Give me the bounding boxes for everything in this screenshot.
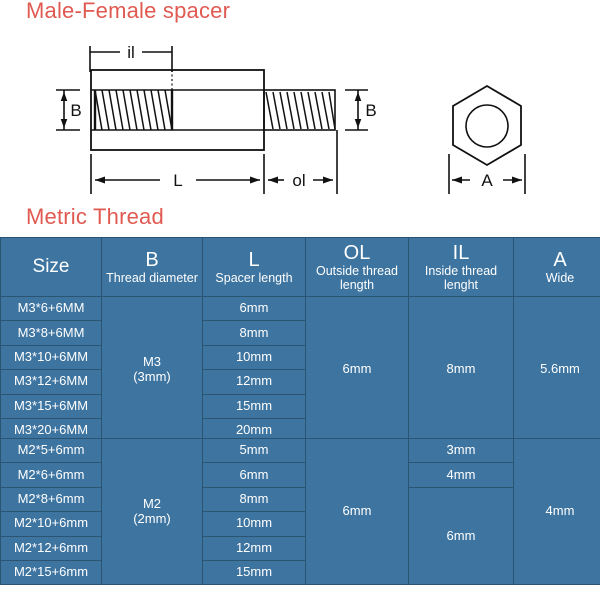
thread-code: M2 bbox=[143, 496, 161, 511]
header-l-desc: Spacer length bbox=[203, 271, 305, 285]
cell-spacer-length: 10mm bbox=[203, 512, 306, 536]
cell-size: M2*12+6mm bbox=[1, 536, 102, 560]
cell-size: M3*15+6MM bbox=[1, 394, 102, 418]
header-ol: OL Outside thread length bbox=[306, 238, 409, 297]
cell-spacer-length: 6mm bbox=[203, 297, 306, 321]
cell-size: M2*10+6mm bbox=[1, 512, 102, 536]
label-ol: ol bbox=[292, 171, 305, 190]
header-size: Size bbox=[1, 238, 102, 297]
header-il: IL Inside thread lenght bbox=[409, 238, 514, 297]
cell-spacer-length: 15mm bbox=[203, 560, 306, 584]
header-ol-code: OL bbox=[306, 243, 408, 264]
header-il-code: IL bbox=[409, 243, 513, 264]
cell-size: M3*10+6MM bbox=[1, 345, 102, 369]
header-a-code: A bbox=[514, 250, 600, 271]
cell-size: M2*6+6mm bbox=[1, 463, 102, 487]
cell-spacer-length: 15mm bbox=[203, 394, 306, 418]
header-ol-desc: Outside thread length bbox=[306, 264, 408, 292]
header-l: L Spacer length bbox=[203, 238, 306, 297]
cell-wide: 5.6mm bbox=[514, 297, 600, 443]
header-a-desc: Wide bbox=[514, 271, 600, 285]
label-l: L bbox=[173, 171, 182, 190]
thread-mm: (3mm) bbox=[102, 370, 202, 385]
spacer-technical-drawing: il B B L ol A bbox=[0, 26, 600, 206]
spec-table-group-m3: M3*6+6MM M3 (3mm) 6mm 6mm 8mm 5.6mm M3*8… bbox=[0, 296, 600, 443]
spacer-body-outline bbox=[91, 70, 264, 150]
cell-spacer-length: 12mm bbox=[203, 536, 306, 560]
cell-spacer-length: 8mm bbox=[203, 487, 306, 511]
cell-thread-m2: M2 (2mm) bbox=[102, 439, 203, 585]
cell-outside-thread-length: 6mm bbox=[306, 439, 409, 585]
header-b: B Thread diameter bbox=[102, 238, 203, 297]
cell-inside-thread-length: 4mm bbox=[409, 463, 514, 487]
label-b-right: B bbox=[365, 101, 376, 120]
cell-inside-thread-length: 3mm bbox=[409, 439, 514, 463]
header-a: A Wide bbox=[514, 238, 600, 297]
cell-spacer-length: 8mm bbox=[203, 321, 306, 345]
label-il: il bbox=[127, 43, 135, 62]
cell-outside-thread-length: 6mm bbox=[306, 297, 409, 443]
table-row: M2*6+6mm 6mm 4mm bbox=[1, 463, 600, 487]
cell-size: M3*12+6MM bbox=[1, 370, 102, 394]
cell-spacer-length: 12mm bbox=[203, 370, 306, 394]
cell-inside-thread-length: 8mm bbox=[409, 297, 514, 443]
external-thread-hatching bbox=[266, 92, 335, 129]
m2-body: M2*5+6mm M2 (2mm) 5mm 6mm 3mm 4mm M2*6+6… bbox=[1, 439, 600, 585]
table-row: M3*6+6MM M3 (3mm) 6mm 6mm 8mm 5.6mm bbox=[1, 297, 600, 321]
cell-size: M3*8+6MM bbox=[1, 321, 102, 345]
header-b-desc: Thread diameter bbox=[102, 271, 202, 285]
spec-table-header: Size B Thread diameter L Spacer length O… bbox=[0, 237, 600, 297]
cell-size: M2*15+6mm bbox=[1, 560, 102, 584]
label-b-left: B bbox=[70, 101, 81, 120]
cell-wide: 4mm bbox=[514, 439, 600, 585]
hexagon-bore-circle bbox=[466, 105, 508, 147]
cell-thread-m3: M3 (3mm) bbox=[102, 297, 203, 443]
m3-body: M3*6+6MM M3 (3mm) 6mm 6mm 8mm 5.6mm M3*8… bbox=[1, 297, 600, 443]
cell-size: M2*5+6mm bbox=[1, 439, 102, 463]
section-title-metric-thread: Metric Thread bbox=[26, 204, 164, 230]
table-row: M2*8+6mm 8mm 6mm bbox=[1, 487, 600, 511]
cell-inside-thread-length: 6mm bbox=[409, 487, 514, 585]
thread-mm: (2mm) bbox=[102, 512, 202, 527]
header-il-desc: Inside thread lenght bbox=[409, 264, 513, 292]
cell-size: M2*8+6mm bbox=[1, 487, 102, 511]
page-title-spacer: Male-Female spacer bbox=[26, 0, 230, 24]
header-l-code: L bbox=[203, 250, 305, 271]
table-row: M2*5+6mm M2 (2mm) 5mm 6mm 3mm 4mm bbox=[1, 439, 600, 463]
cell-size: M3*6+6MM bbox=[1, 297, 102, 321]
table-header-row: Size B Thread diameter L Spacer length O… bbox=[1, 238, 600, 297]
cell-spacer-length: 10mm bbox=[203, 345, 306, 369]
thread-code: M3 bbox=[143, 354, 161, 369]
label-a: A bbox=[481, 171, 493, 190]
spec-table-group-m2: M2*5+6mm M2 (2mm) 5mm 6mm 3mm 4mm M2*6+6… bbox=[0, 438, 600, 585]
cell-spacer-length: 6mm bbox=[203, 463, 306, 487]
header-b-code: B bbox=[102, 250, 202, 271]
cell-spacer-length: 5mm bbox=[203, 439, 306, 463]
hexagon-outline bbox=[453, 86, 521, 165]
internal-thread-hatching bbox=[95, 90, 172, 130]
